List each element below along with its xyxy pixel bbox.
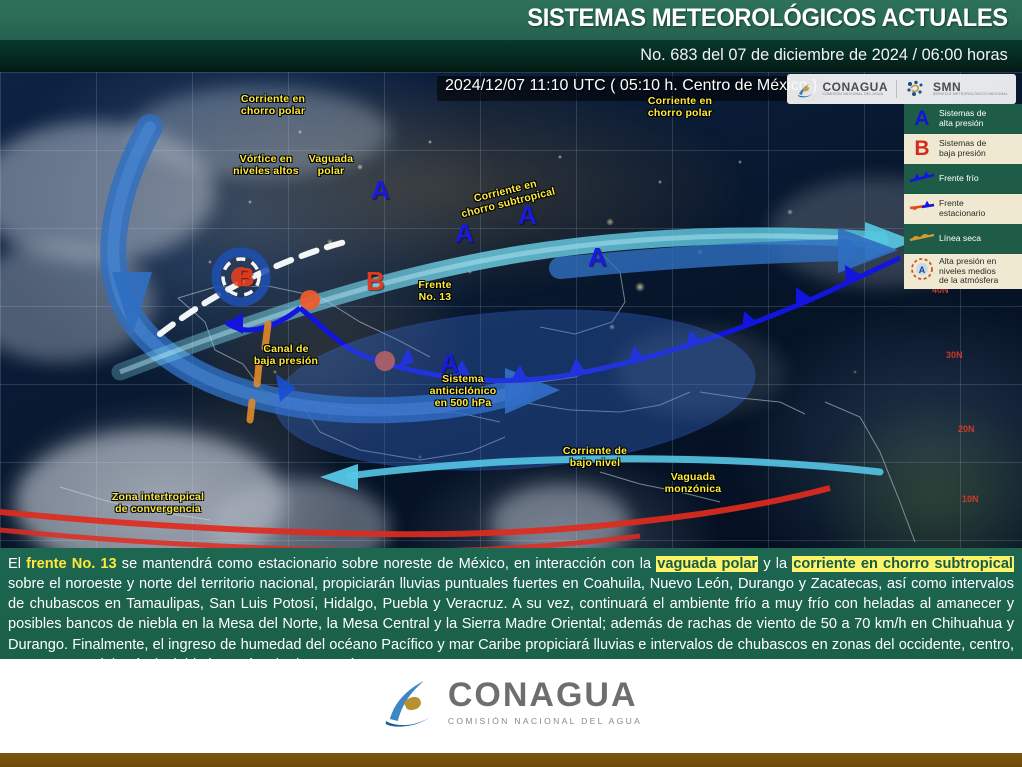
coord-label: 10N: [962, 494, 979, 504]
map-legend: A Sistemas de alta presión B Sistemas de…: [904, 104, 1022, 289]
annotation-corriente-bajo-nivel: Corriente de bajo nivel: [545, 446, 645, 470]
low-pressure-mark: B: [366, 268, 385, 294]
annotation-canal-baja-presion: Canal de baja presión: [240, 344, 332, 368]
legend-label: Frente frío: [937, 174, 979, 184]
mid-level-high-icon: A: [907, 256, 937, 287]
low-pressure-mark: B: [236, 264, 255, 290]
annotation-vaguada-polar: Vaguada polar: [290, 154, 372, 178]
conagua-footer-logo: CONAGUA COMISIÓN NACIONAL DEL AGUA: [380, 675, 642, 729]
bulletin-number-text: No. 683 del 07 de diciembre de 2024 / 06…: [641, 45, 1008, 65]
page-footer: CONAGUA COMISIÓN NACIONAL DEL AGUA: [0, 659, 1022, 753]
annotation-zona-intertropical-convergencia: Zona intertropical de convergencia: [88, 492, 228, 516]
annotation-corriente-chorro-polar-este: Corriente en chorro polar: [625, 96, 735, 120]
conagua-logo-icon: [795, 79, 815, 99]
bulletin-segment: corriente en chorro subtropical: [792, 556, 1014, 572]
legend-label: Alta presión en niveles medios de la atm…: [937, 257, 998, 286]
footer-accent-bar: [0, 753, 1022, 767]
conagua-wave-icon: [380, 675, 438, 729]
legend-item-stationary-front[interactable]: Frente estacionario: [904, 194, 1022, 224]
svg-text:A: A: [919, 265, 926, 275]
bulletin-segment: El: [8, 556, 26, 572]
legend-label: Línea seca: [937, 234, 981, 244]
bulletin-text-panel: El frente No. 13 se mantendrá como estac…: [0, 548, 1022, 659]
high-pressure-mark: A: [588, 244, 607, 270]
bulletin-segment: vaguada polar: [656, 556, 758, 572]
legend-item-low-pressure[interactable]: B Sistemas de baja presión: [904, 134, 1022, 164]
dry-line-icon: [907, 229, 937, 250]
logo-divider: [896, 80, 897, 98]
coord-label: 30N: [946, 350, 963, 360]
smn-logo-icon: [905, 79, 925, 99]
high-pressure-mark: A: [455, 220, 474, 246]
bulletin-paragraph: El frente No. 13 se mantendrá como estac…: [8, 554, 1014, 675]
footer-org-name: CONAGUA: [448, 678, 642, 712]
legend-item-high-pressure[interactable]: A Sistemas de alta presión: [904, 104, 1022, 134]
coord-label: 20N: [958, 424, 975, 434]
legend-label: Frente estacionario: [937, 199, 985, 218]
legend-label: Sistemas de alta presión: [937, 109, 986, 128]
letter-A-blue-icon: A: [907, 108, 937, 130]
legend-item-cold-front[interactable]: Frente frío: [904, 164, 1022, 194]
bulletin-segment: se mantendrá como estacionario sobre nor…: [117, 556, 657, 572]
page-header: SISTEMAS METEOROLÓGICOS ACTUALES: [0, 0, 1022, 40]
page-title: SISTEMAS METEOROLÓGICOS ACTUALES: [528, 4, 1008, 33]
high-pressure-mark: A: [371, 177, 390, 203]
stationary-front-icon: [907, 199, 937, 220]
bulletin-number-bar: No. 683 del 07 de diciembre de 2024 / 06…: [0, 40, 1022, 72]
map-vector-layer: [0, 72, 1022, 548]
map-logo-bar: CONAGUA COMISIÓN NACIONAL DEL AGUA SMN S…: [787, 74, 1017, 104]
footer-org-sub: COMISIÓN NACIONAL DEL AGUA: [448, 716, 642, 726]
annotation-corriente-chorro-polar-oeste: Corriente en chorro polar: [218, 94, 328, 118]
legend-label: Sistemas de baja presión: [937, 139, 986, 158]
annotation-vaguada-monzonica: Vaguada monzónica: [648, 472, 738, 496]
legend-item-mid-level-high[interactable]: A Alta presión en niveles medios de la a…: [904, 254, 1022, 289]
satellite-weather-map[interactable]: 2024/12/07 11:10 UTC ( 05:10 h. Centro d…: [0, 72, 1022, 548]
toplogo-smn-sub: SERVICIO METEOROLÓGICO NACIONAL: [933, 93, 1008, 96]
annotation-sistema-anticiclonico: Sistema anticiclónico en 500 hPa: [408, 374, 518, 409]
bulletin-segment: frente No. 13: [26, 556, 117, 572]
letter-B-red-icon: B: [907, 138, 937, 160]
annotation-frente-no-13: Frente No. 13: [400, 280, 470, 304]
legend-item-dry-line[interactable]: Línea seca: [904, 224, 1022, 254]
cold-front-icon: [907, 169, 937, 190]
toplogo-conagua-sub: COMISIÓN NACIONAL DEL AGUA: [823, 93, 889, 96]
bulletin-segment: y la: [758, 556, 792, 572]
